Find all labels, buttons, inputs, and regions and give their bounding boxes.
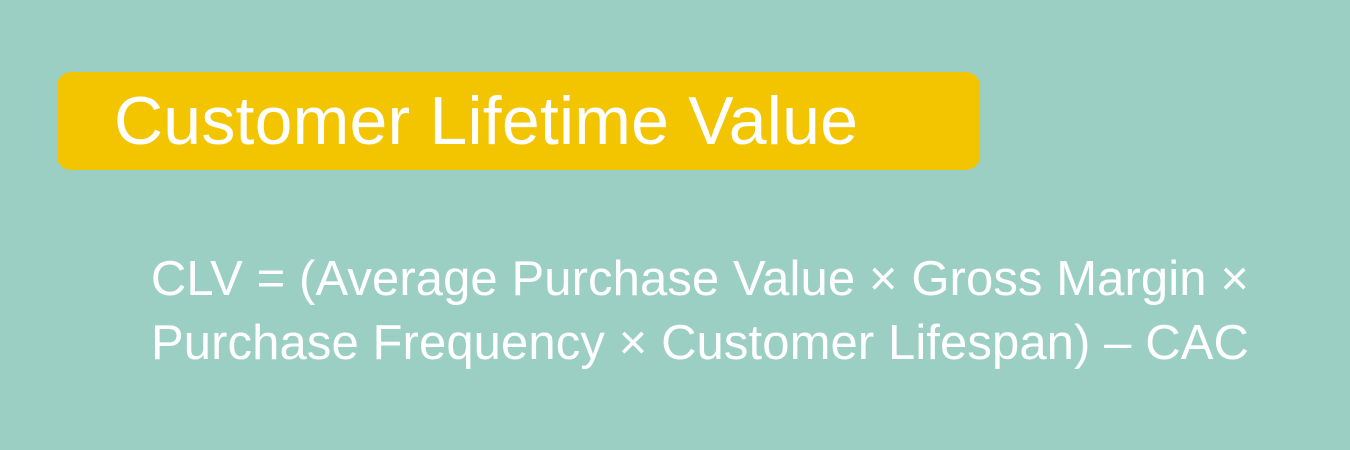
slide-canvas: Customer Lifetime Value CLV = (Average P… <box>0 0 1350 450</box>
title-badge-label: Customer Lifetime Value <box>114 87 858 155</box>
formula-line-1: CLV = (Average Purchase Value × Gross Ma… <box>0 247 1350 311</box>
formula-line-2: Purchase Frequency × Customer Lifespan) … <box>0 311 1350 375</box>
formula-block: CLV = (Average Purchase Value × Gross Ma… <box>0 247 1350 375</box>
title-badge: Customer Lifetime Value <box>57 72 980 170</box>
